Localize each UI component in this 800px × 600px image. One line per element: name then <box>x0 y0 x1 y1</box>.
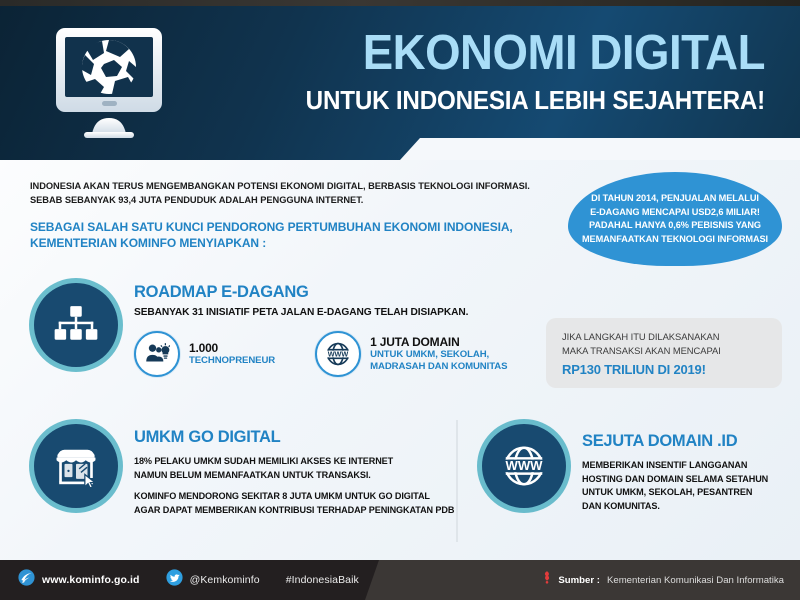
callout-line-4: MEMANFAATKAN TEKNOLOGI INFORMASI <box>582 233 768 247</box>
infographic-page: EKONOMI DIGITAL UNTUK INDONESIA LEBIH SE… <box>0 0 800 600</box>
stat-number: 1 JUTA DOMAIN <box>370 335 507 349</box>
umkm-para-2-line-1: KOMINFO MENDORONG SEKITAR 8 JUTA UMKM UN… <box>134 490 474 504</box>
footer-twitter[interactable]: @Kemkominfo <box>166 569 260 591</box>
footer-twitter-handle: @Kemkominfo <box>190 574 260 586</box>
stat-domain: WWW 1 JUTA DOMAIN UNTUK UMKM, SEKOLAH, M… <box>315 331 507 377</box>
roadmap-title: ROADMAP E-DAGANG <box>134 283 554 302</box>
intro-line-1: INDONESIA AKAN TERUS MENGEMBANGKAN POTEN… <box>30 180 550 194</box>
top-strip <box>0 0 800 6</box>
roadmap-desc: SEBANYAK 31 INISIATIF PETA JALAN E-DAGAN… <box>134 306 554 320</box>
intro-heading-2: KEMENTERIAN KOMINFO MENYIAPKAN : <box>30 235 550 251</box>
callout-line-2: E-DAGANG MENCAPAI USD2,6 MILIAR! <box>582 206 768 220</box>
footer-source: Sumber : Kementerian Komunikasi Dan Info… <box>543 560 784 600</box>
footer-website-text: www.kominfo.go.id <box>42 574 140 586</box>
roadmap-body: ROADMAP E-DAGANG SEBANYAK 31 INISIATIF P… <box>134 283 554 377</box>
intro-heading-1: SEBAGAI SALAH SATU KUNCI PENDORONG PERTU… <box>30 219 550 235</box>
roadmap-stats: 1.000 TECHNOPRENEUR <box>134 331 554 377</box>
org-chart-icon <box>34 283 118 367</box>
callout-line-1: DI TAHUN 2014, PENJUALAN MELALUI <box>582 192 768 206</box>
umkm-para-2: KOMINFO MENDORONG SEKITAR 8 JUTA UMKM UN… <box>134 490 474 517</box>
footer-website[interactable]: www.kominfo.go.id <box>18 569 140 591</box>
footer-links: www.kominfo.go.id @Kemkominfo #Indonesia… <box>18 560 359 600</box>
projection-highlight: RP130 TRILIUN DI 2019! <box>562 361 766 379</box>
www-globe-icon: WWW <box>482 424 566 508</box>
storefront-cursor-icon <box>34 424 118 508</box>
umkm-body: UMKM GO DIGITAL 18% PELAKU UMKM SUDAH ME… <box>134 428 474 517</box>
header-notch <box>400 138 800 160</box>
intro-block: INDONESIA AKAN TERUS MENGEMBANGKAN POTEN… <box>30 180 550 251</box>
stat-label: UNTUK UMKM, SEKOLAH, <box>370 349 507 362</box>
intro-line-2: SEBAB SEBANYAK 93,4 JUTA PENDUDUK ADALAH… <box>30 194 550 208</box>
projection-line-2: MAKA TRANSAKSI AKAN MENCAPAI <box>562 344 766 358</box>
twitter-icon <box>166 569 183 591</box>
sejuta-line-1: MEMBERIKAN INSENTIF LANGGANAN <box>582 459 800 473</box>
header-title-block: EKONOMI DIGITAL UNTUK INDONESIA LEBIH SE… <box>225 26 765 116</box>
page-subtitle: UNTUK INDONESIA LEBIH SEJAHTERA! <box>263 84 765 116</box>
www-globe-icon: WWW <box>315 331 361 377</box>
footer-source-value: Kementerian Komunikasi Dan Informatika <box>607 575 784 586</box>
header-banner: EKONOMI DIGITAL UNTUK INDONESIA LEBIH SE… <box>0 0 800 160</box>
footer-source-label: Sumber : <box>558 575 600 586</box>
page-title: EKONOMI DIGITAL <box>263 26 765 80</box>
sejuta-paragraph: MEMBERIKAN INSENTIF LANGGANAN HOSTING DA… <box>582 459 800 513</box>
svg-text:WWW: WWW <box>506 458 544 473</box>
projection-box: JIKA LANGKAH ITU DILAKSANAKAN MAKA TRANS… <box>546 318 782 388</box>
stat-technopreneur: 1.000 TECHNOPRENEUR <box>134 331 275 377</box>
section-roadmap: ROADMAP E-DAGANG SEBANYAK 31 INISIATIF P… <box>34 283 118 367</box>
stat-domain-text: 1 JUTA DOMAIN UNTUK UMKM, SEKOLAH, MADRA… <box>370 335 507 374</box>
sejuta-line-3: UNTUK UMKM, SEKOLAH, PESANTREN <box>582 486 800 500</box>
sejuta-body: SEJUTA DOMAIN .ID MEMBERIKAN INSENTIF LA… <box>582 432 800 513</box>
footer-hashtag-text: #IndonesiaBaik <box>286 574 359 586</box>
callout-line-3: PADAHAL HANYA 0,6% PEBISNIS YANG <box>582 219 768 233</box>
umkm-para-1: 18% PELAKU UMKM SUDAH MEMILIKI AKSES KE … <box>134 455 474 482</box>
umkm-para-1-line-2: NAMUN BELUM MEMANFAATKAN UNTUK TRANSAKSI… <box>134 469 474 483</box>
umkm-title: UMKM GO DIGITAL <box>134 428 474 447</box>
stat-label: TECHNOPRENEUR <box>189 355 275 368</box>
callout-text: DI TAHUN 2014, PENJUALAN MELALUI E-DAGAN… <box>576 192 774 246</box>
section-sejuta-domain: WWW SEJUTA DOMAIN .ID MEMBERIKAN INSENTI… <box>482 424 566 508</box>
projection-line-1: JIKA LANGKAH ITU DILAKSANAKAN <box>562 330 766 344</box>
footer-hashtag[interactable]: #IndonesiaBaik <box>286 574 359 586</box>
stat-technopreneur-text: 1.000 TECHNOPRENEUR <box>189 341 275 368</box>
stat-number: 1.000 <box>189 341 275 355</box>
callout-oval: DI TAHUN 2014, PENJUALAN MELALUI E-DAGAN… <box>568 172 782 266</box>
footer-website-label: www.kominfo.go.id <box>42 574 140 586</box>
stat-label-2: MADRASAH DAN KOMUNITAS <box>370 361 507 374</box>
svg-text:WWW: WWW <box>328 350 349 359</box>
umkm-para-2-line-2: AGAR DAPAT MEMBERIKAN KONTRIBUSI TERHADA… <box>134 504 474 518</box>
umkm-para-1-line-1: 18% PELAKU UMKM SUDAH MEMILIKI AKSES KE … <box>134 455 474 469</box>
monitor-globe-icon <box>44 22 174 142</box>
sejuta-line-2: HOSTING DAN DOMAIN SELAMA SETAHUN <box>582 473 800 487</box>
kominfo-logo-icon <box>18 569 35 591</box>
sejuta-title: SEJUTA DOMAIN .ID <box>582 432 800 451</box>
sejuta-line-4: DAN KOMUNITAS. <box>582 500 800 514</box>
technopreneur-icon <box>134 331 180 377</box>
source-marker-icon <box>543 571 551 589</box>
section-umkm: UMKM GO DIGITAL 18% PELAKU UMKM SUDAH ME… <box>34 424 118 508</box>
footer-bar: www.kominfo.go.id @Kemkominfo #Indonesia… <box>0 560 800 600</box>
